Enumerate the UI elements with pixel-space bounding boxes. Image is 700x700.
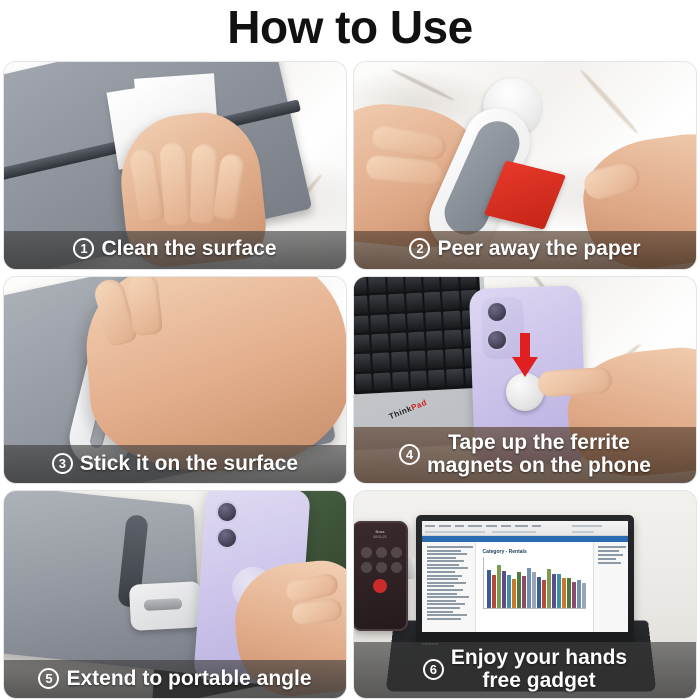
tree-item — [427, 589, 463, 591]
chart-bar — [517, 572, 521, 609]
laptop-screen: Category - Rentals — [416, 515, 634, 643]
keyboard-key — [387, 277, 404, 293]
tree-item — [427, 578, 458, 580]
keyboard-key — [391, 351, 408, 369]
tree-item — [427, 575, 462, 577]
object-tree-panel — [422, 542, 476, 632]
step-caption-text-6: Enjoy your hands free gadget — [451, 646, 627, 692]
bar-chart — [483, 557, 586, 609]
tree-item — [427, 557, 456, 559]
caller-name: Boss — [354, 529, 406, 534]
chart-bar — [507, 575, 511, 609]
keyboard-key — [406, 293, 423, 311]
how-to-use-infographic: How to Use 1 Clean — [0, 0, 700, 700]
step-number-5: 5 — [38, 668, 59, 689]
keyboard-key — [354, 277, 367, 295]
step-caption-text-4: Tape up the ferrite magnets on the phone — [427, 431, 651, 477]
keyboard-key — [445, 349, 462, 367]
finger — [159, 141, 192, 227]
chart-bar — [502, 571, 506, 609]
step-caption-6: 6 Enjoy your hands free gadget — [354, 642, 696, 698]
step-panel-3[interactable]: 3 Stick it on the surface — [4, 277, 346, 484]
keyboard-key — [410, 370, 427, 388]
keyboard-key — [388, 294, 405, 312]
step-caption-2: 2 Peer away the paper — [354, 231, 696, 269]
step-caption-3: 3 Stick it on the surface — [4, 445, 346, 483]
ribbon-item — [425, 531, 485, 533]
tree-item — [427, 593, 457, 595]
ribbon-item — [468, 525, 482, 527]
step-caption-1: 1 Clean the surface — [4, 231, 346, 269]
chart-bar — [562, 578, 566, 608]
keyboard-key — [405, 277, 422, 292]
call-duration: 00:01:21 — [354, 535, 406, 539]
keyboard-key — [370, 314, 387, 332]
tree-item — [427, 596, 469, 598]
finger — [127, 277, 163, 336]
chart-bar — [577, 580, 581, 609]
chart-bar — [522, 576, 526, 608]
report-canvas: Category - Rentals — [476, 542, 593, 632]
step-panel-4[interactable]: ThinkPad 4 Tape up the ferrite magnets o… — [354, 277, 696, 484]
index-finger — [537, 366, 613, 397]
step-number-6: 6 — [423, 659, 444, 680]
speaker-button[interactable] — [391, 547, 402, 558]
chart-bar — [487, 570, 491, 608]
keyboard-key — [354, 315, 369, 333]
chart-bar — [542, 580, 546, 608]
steps-grid: 1 Clean the surface — [4, 62, 696, 698]
add-call-button[interactable] — [361, 562, 372, 573]
tree-item — [427, 553, 467, 555]
keyboard-key — [442, 291, 459, 309]
keyboard-key — [390, 332, 407, 350]
tree-item — [427, 582, 466, 584]
ribbon-item — [425, 525, 435, 527]
keyboard-key — [409, 351, 426, 369]
keyboard-key — [369, 295, 386, 313]
keyboard-key — [354, 353, 371, 371]
tree-item — [427, 564, 459, 566]
ribbon-item — [455, 525, 464, 527]
ribbon-item — [572, 525, 602, 527]
keyboard-key — [371, 333, 388, 351]
down-arrow-icon — [510, 333, 540, 377]
spreadsheet-app: Category - Rentals — [422, 521, 628, 632]
keyboard-key — [354, 334, 370, 352]
ribbon-item — [532, 525, 541, 527]
keyboard-key — [428, 369, 445, 387]
camera-lens-icon — [486, 300, 509, 323]
keyboard-key — [426, 330, 443, 348]
step-number-1: 1 — [73, 238, 94, 259]
tree-item — [427, 607, 460, 609]
camera-lens-icon — [486, 328, 509, 351]
step-caption-text-1: Clean the surface — [101, 237, 276, 260]
chart-bar — [582, 583, 586, 608]
chart-bar — [572, 582, 576, 609]
contacts-button[interactable] — [391, 562, 402, 573]
page-title: How to Use — [0, 0, 700, 56]
keyboard-key — [423, 277, 440, 291]
keyboard-key — [355, 373, 372, 391]
keyboard-key — [408, 331, 425, 349]
keyboard-key — [441, 277, 458, 290]
tree-item — [427, 611, 453, 613]
ribbon-item — [439, 525, 451, 527]
tree-item — [427, 618, 461, 620]
keyboard-key — [443, 310, 460, 328]
keyboard-key — [424, 292, 441, 310]
ribbon-item — [486, 525, 497, 527]
chart-bar — [537, 577, 541, 609]
mute-button[interactable] — [361, 547, 372, 558]
keyboard-key — [373, 372, 390, 390]
keyboard-key — [407, 312, 424, 330]
end-call-button[interactable] — [373, 579, 387, 593]
tree-item — [427, 546, 473, 548]
tree-item — [427, 567, 468, 569]
step-caption-4: 4 Tape up the ferrite magnets on the pho… — [354, 427, 696, 483]
ribbon-item — [501, 525, 511, 527]
chart-title: Category - Rentals — [483, 549, 588, 555]
step-number-2: 2 — [409, 238, 430, 259]
tree-item — [427, 560, 464, 562]
keyboard-key — [460, 277, 477, 289]
step-panel-1[interactable]: 1 Clean the surface — [4, 62, 346, 269]
step-caption-text-5: Extend to portable angle — [66, 667, 311, 690]
laptop-keyboard — [354, 277, 485, 394]
facetime-button[interactable] — [376, 562, 387, 573]
properties-panel — [593, 542, 628, 632]
chart-bar — [557, 574, 561, 608]
tree-item — [427, 614, 467, 616]
ribbon-item — [572, 531, 594, 533]
keyboard-key — [425, 311, 442, 329]
keyboard-key — [368, 277, 385, 294]
chart-bar — [497, 565, 501, 608]
keyboard-key — [427, 350, 444, 368]
step-number-3: 3 — [52, 453, 73, 474]
step-number-4: 4 — [399, 444, 420, 465]
keyboard-key — [354, 295, 368, 313]
property-item — [598, 562, 621, 564]
step-caption-5: 5 Extend to portable angle — [4, 660, 346, 698]
step-caption-text-2: Peer away the paper — [437, 237, 640, 260]
phone-in-call: Boss 00:01:21 — [354, 521, 408, 631]
chart-bar — [532, 572, 536, 608]
chart-bar — [512, 579, 516, 608]
ribbon-item — [492, 531, 536, 533]
property-item — [598, 550, 619, 552]
step-panel-5[interactable]: 5 Extend to portable angle — [4, 491, 346, 698]
tree-item — [427, 600, 456, 602]
chart-bar — [492, 575, 496, 609]
call-controls — [354, 539, 406, 573]
keyboard-key — [444, 329, 461, 347]
chart-bar — [567, 578, 571, 608]
chart-bars — [487, 557, 586, 608]
keyboard-key — [389, 313, 406, 331]
step-panel-6[interactable]: Lenovo — [354, 491, 696, 698]
chart-bar — [547, 569, 551, 608]
tree-item — [427, 571, 455, 573]
app-ribbon — [422, 521, 628, 536]
property-item — [598, 546, 626, 548]
tree-item — [427, 603, 465, 605]
keypad-button[interactable] — [376, 547, 387, 558]
app-body: Category - Rentals — [422, 542, 628, 632]
chart-bar — [527, 568, 531, 609]
tree-item — [427, 550, 461, 552]
keyboard-key — [372, 352, 389, 370]
chart-bar — [552, 574, 556, 609]
property-item — [598, 558, 616, 560]
tree-item — [427, 585, 454, 587]
keyboard-key — [446, 368, 463, 386]
ribbon-item — [515, 525, 528, 527]
property-item — [598, 554, 623, 556]
step-caption-text-3: Stick it on the surface — [80, 452, 298, 475]
keyboard-key — [392, 371, 409, 389]
step-panel-2[interactable]: 2 Peer away the paper — [354, 62, 696, 269]
